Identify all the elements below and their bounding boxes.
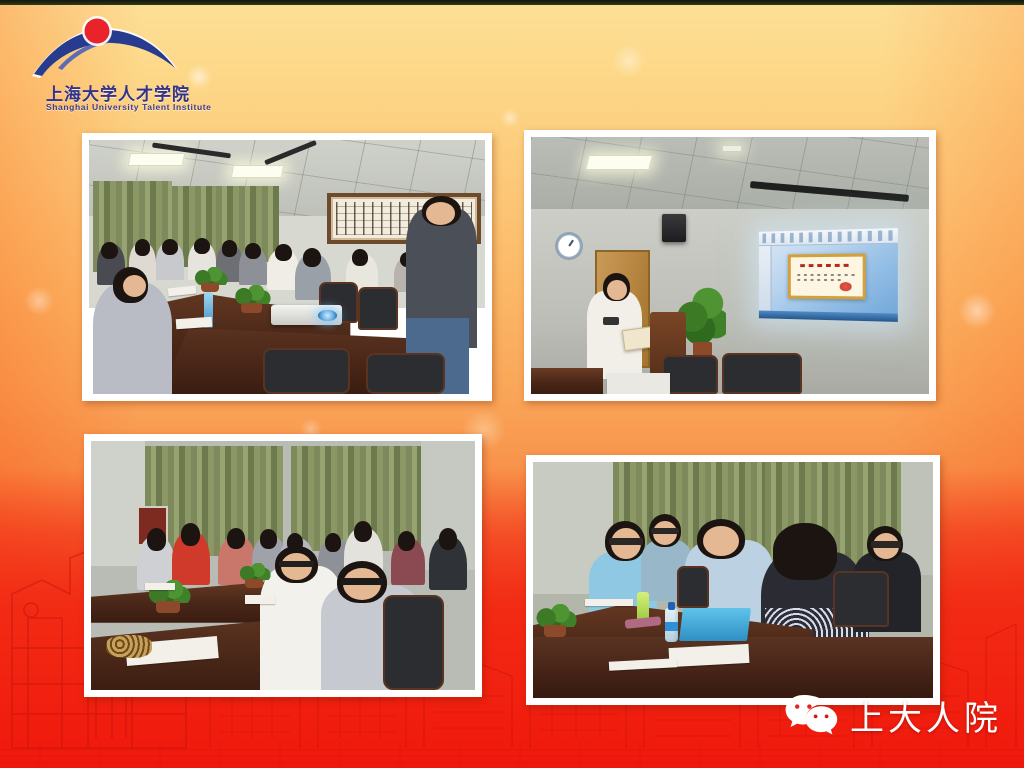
photo-4-scene: [533, 462, 933, 698]
paper-sheet: [585, 599, 633, 606]
institute-logo: 上海大学人才学院 Shanghai University Talent Inst…: [18, 12, 228, 116]
water-bottle: [665, 608, 678, 642]
photo-3-scene: [91, 441, 475, 690]
wall-clock: [555, 232, 583, 260]
ceiling-light: [127, 153, 185, 166]
leopard-print-bag: [106, 635, 152, 657]
paper-stack: [607, 373, 671, 394]
wechat-icon: [784, 693, 838, 739]
ceiling-light: [230, 165, 284, 178]
ceiling-light: [585, 155, 653, 170]
eyeglasses: [341, 578, 383, 585]
chair: [833, 571, 889, 628]
paper-sheet: [145, 583, 176, 590]
eyeglasses: [279, 561, 314, 567]
paper-sheet: [245, 595, 276, 603]
photo-1-scene: [89, 140, 485, 394]
top-edge-bar: [0, 0, 1024, 5]
ceiling-speaker: [662, 214, 686, 242]
blue-folder: [679, 608, 751, 641]
wechat-badge[interactable]: 上大人院: [784, 691, 1002, 740]
logo-sun-icon: [85, 19, 110, 44]
slide-canvas: 上海大学人才学院 Shanghai University Talent Inst…: [0, 0, 1024, 768]
chair: [677, 566, 709, 608]
chair: [383, 595, 444, 690]
photo-2[interactable]: [524, 130, 936, 401]
eyeglasses: [651, 528, 679, 534]
eyeglasses: [871, 541, 901, 548]
projector: [271, 305, 342, 325]
potted-plant: [192, 267, 228, 292]
table-edge: [531, 368, 603, 394]
photo-4[interactable]: [526, 455, 940, 705]
photo-3[interactable]: [84, 434, 482, 697]
photo-2-scene: [531, 137, 929, 394]
potted-plant: [533, 604, 577, 637]
chair: [722, 353, 802, 394]
wechat-label: 上大人院: [850, 691, 1002, 740]
potted-plant: [237, 563, 272, 588]
projected-slide: [759, 228, 898, 322]
potted-plant: [232, 285, 272, 313]
tshirt-logo: [603, 317, 619, 325]
eyeglasses: [609, 538, 643, 545]
photo-1[interactable]: [82, 133, 492, 401]
logo-name-en: Shanghai University Talent Institute: [46, 102, 212, 112]
chair: [662, 355, 718, 394]
ceiling-light: [722, 145, 742, 153]
